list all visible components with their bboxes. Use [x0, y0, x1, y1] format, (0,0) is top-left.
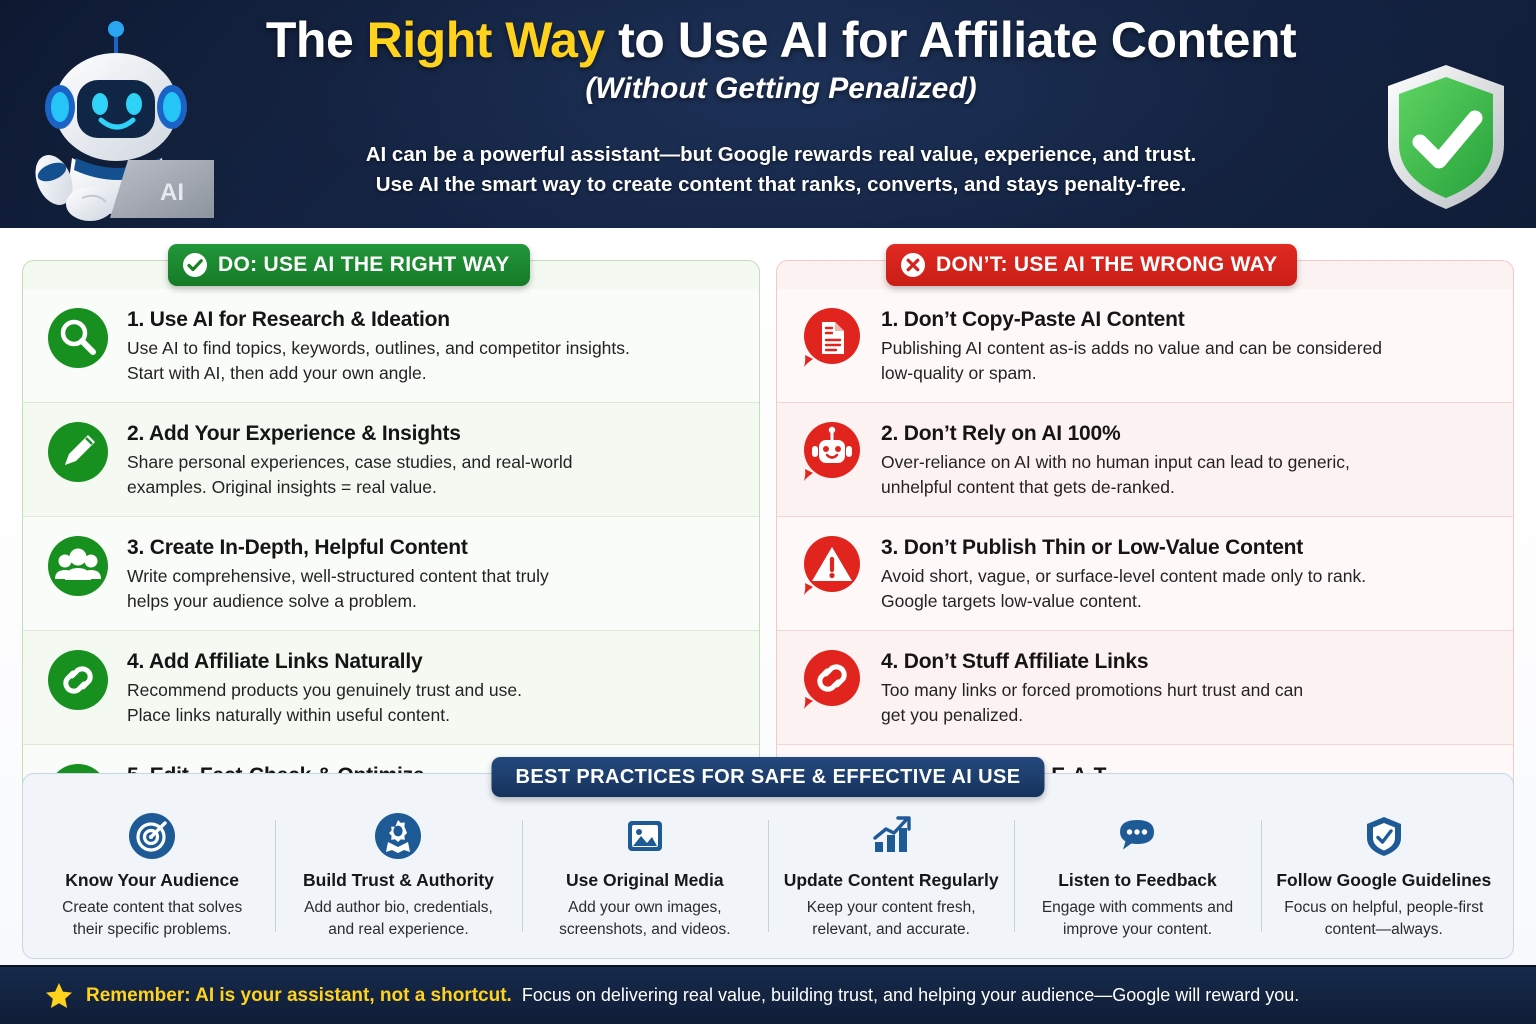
bp-title: Follow Google Guidelines: [1273, 870, 1495, 891]
dont-item-title: 4. Don’t Stuff Affiliate Links: [881, 649, 1491, 675]
do-item-4: 4. Add Affiliate Links Naturally Recomme…: [23, 630, 759, 744]
bp-item-listen-to-feedback: Listen to Feedback Engage with comments …: [1014, 808, 1260, 942]
laptop-ai-label: AI: [160, 179, 184, 206]
image-photo-icon: [621, 812, 669, 860]
title-highlight: Right Way: [367, 12, 605, 68]
check-circle-icon: [182, 252, 208, 278]
bp-item-know-your-audience: Know Your Audience Create content that s…: [29, 808, 275, 942]
header-title-block: The Right Way to Use AI for Affiliate Co…: [196, 12, 1366, 106]
dont-item-desc: Too many links or forced promotions hurt…: [881, 678, 1491, 728]
link-chain-icon: [47, 649, 109, 711]
star-icon: [44, 981, 74, 1011]
dont-item-desc: Avoid short, vague, or surface-level con…: [881, 564, 1491, 614]
dont-badge: DON’T: USE AI THE WRONG WAY: [886, 244, 1297, 286]
dont-item-title: 1. Don’t Copy-Paste AI Content: [881, 307, 1491, 333]
page-subtitle: (Without Getting Penalized): [196, 72, 1366, 106]
bp-title: Update Content Regularly: [780, 870, 1002, 891]
bp-desc: Keep your content fresh, relevant, and a…: [780, 897, 1002, 940]
do-item-desc: Use AI to find topics, keywords, outline…: [127, 336, 737, 386]
best-practices-section: BEST PRACTICES FOR SAFE & EFFECTIVE AI U…: [22, 773, 1514, 959]
dont-item-1: 1. Don’t Copy-Paste AI Content Publishin…: [777, 289, 1513, 402]
link-chain-icon: [801, 649, 863, 711]
main-content: DO: USE AI THE RIGHT WAY 1. Use AI for R…: [0, 228, 1536, 965]
best-practices-panel: Know Your Audience Create content that s…: [22, 773, 1514, 959]
pencil-icon: [47, 421, 109, 483]
people-group-icon: [47, 535, 109, 597]
do-item-title: 4. Add Affiliate Links Naturally: [127, 649, 737, 675]
do-item-desc: Recommend products you genuinely trust a…: [127, 678, 737, 728]
bp-desc: Add your own images, screenshots, and vi…: [534, 897, 756, 940]
shield-check-icon: [1360, 812, 1408, 860]
document-icon: [801, 307, 863, 369]
bp-desc: Create content that solves their specifi…: [41, 897, 263, 940]
dont-item-desc: Over-reliance on AI with no human input …: [881, 450, 1491, 500]
do-item-1: 1. Use AI for Research & Ideation Use AI…: [23, 289, 759, 402]
dont-item-4: 4. Don’t Stuff Affiliate Links Too many …: [777, 630, 1513, 744]
do-item-title: 2. Add Your Experience & Insights: [127, 421, 737, 447]
bp-item-use-original-media: Use Original Media Add your own images, …: [522, 808, 768, 942]
comment-bubble-icon: [1113, 812, 1161, 860]
robot-mascot-icon: AI: [24, 12, 214, 224]
bp-title: Know Your Audience: [41, 870, 263, 891]
green-shield-check-icon: [1382, 62, 1510, 212]
do-item-desc: Share personal experiences, case studies…: [127, 450, 737, 500]
best-practices-badge: BEST PRACTICES FOR SAFE & EFFECTIVE AI U…: [492, 757, 1045, 797]
bp-title: Use Original Media: [534, 870, 756, 891]
magnifier-icon: [47, 307, 109, 369]
footer-bar: Remember: AI is your assistant, not a sh…: [0, 965, 1536, 1024]
dont-item-3: 3. Don’t Publish Thin or Low-Value Conte…: [777, 516, 1513, 630]
do-badge-label: DO: USE AI THE RIGHT WAY: [218, 253, 510, 277]
bp-title: Listen to Feedback: [1026, 870, 1248, 891]
x-circle-icon: [900, 252, 926, 278]
robot-head-icon: [801, 421, 863, 483]
bp-desc: Focus on helpful, people-first content—a…: [1273, 897, 1495, 940]
bp-item-update-content-regularly: Update Content Regularly Keep your conte…: [768, 808, 1014, 942]
lede-line-1: AI can be a powerful assistant—but Googl…: [196, 140, 1366, 170]
dont-item-2: 2. Don’t Rely on AI 100% Over-reliance o…: [777, 402, 1513, 516]
dont-item-title: 3. Don’t Publish Thin or Low-Value Conte…: [881, 535, 1491, 561]
bp-desc: Engage with comments and improve your co…: [1026, 897, 1248, 940]
dont-item-title: 2. Don’t Rely on AI 100%: [881, 421, 1491, 447]
bp-item-follow-google-guidelines: Follow Google Guidelines Focus on helpfu…: [1261, 808, 1507, 942]
page-title: The Right Way to Use AI for Affiliate Co…: [196, 12, 1366, 68]
footer-rest-text: Focus on delivering real value, building…: [522, 985, 1299, 1006]
lede-line-2: Use AI the smart way to create content t…: [196, 170, 1366, 200]
header-banner: AI The Right Way to Use AI for Affiliate…: [0, 0, 1536, 228]
target-icon: [128, 812, 176, 860]
do-item-2: 2. Add Your Experience & Insights Share …: [23, 402, 759, 516]
growth-chart-icon: [867, 812, 915, 860]
do-item-title: 3. Create In-Depth, Helpful Content: [127, 535, 737, 561]
do-badge: DO: USE AI THE RIGHT WAY: [168, 244, 530, 286]
do-item-title: 1. Use AI for Research & Ideation: [127, 307, 737, 333]
dont-badge-label: DON’T: USE AI THE WRONG WAY: [936, 253, 1277, 277]
do-item-3: 3. Create In-Depth, Helpful Content Writ…: [23, 516, 759, 630]
dont-item-desc: Publishing AI content as-is adds no valu…: [881, 336, 1491, 386]
do-item-desc: Write comprehensive, well-structured con…: [127, 564, 737, 614]
badge-person-icon: [374, 812, 422, 860]
bp-desc: Add author bio, credentials, and real ex…: [287, 897, 509, 940]
header-lede: AI can be a powerful assistant—but Googl…: [196, 140, 1366, 199]
bp-item-build-trust-authority: Build Trust & Authority Add author bio, …: [275, 808, 521, 942]
bp-title: Build Trust & Authority: [287, 870, 509, 891]
warning-triangle-icon: [801, 535, 863, 597]
footer-strong-text: Remember: AI is your assistant, not a sh…: [86, 985, 512, 1007]
